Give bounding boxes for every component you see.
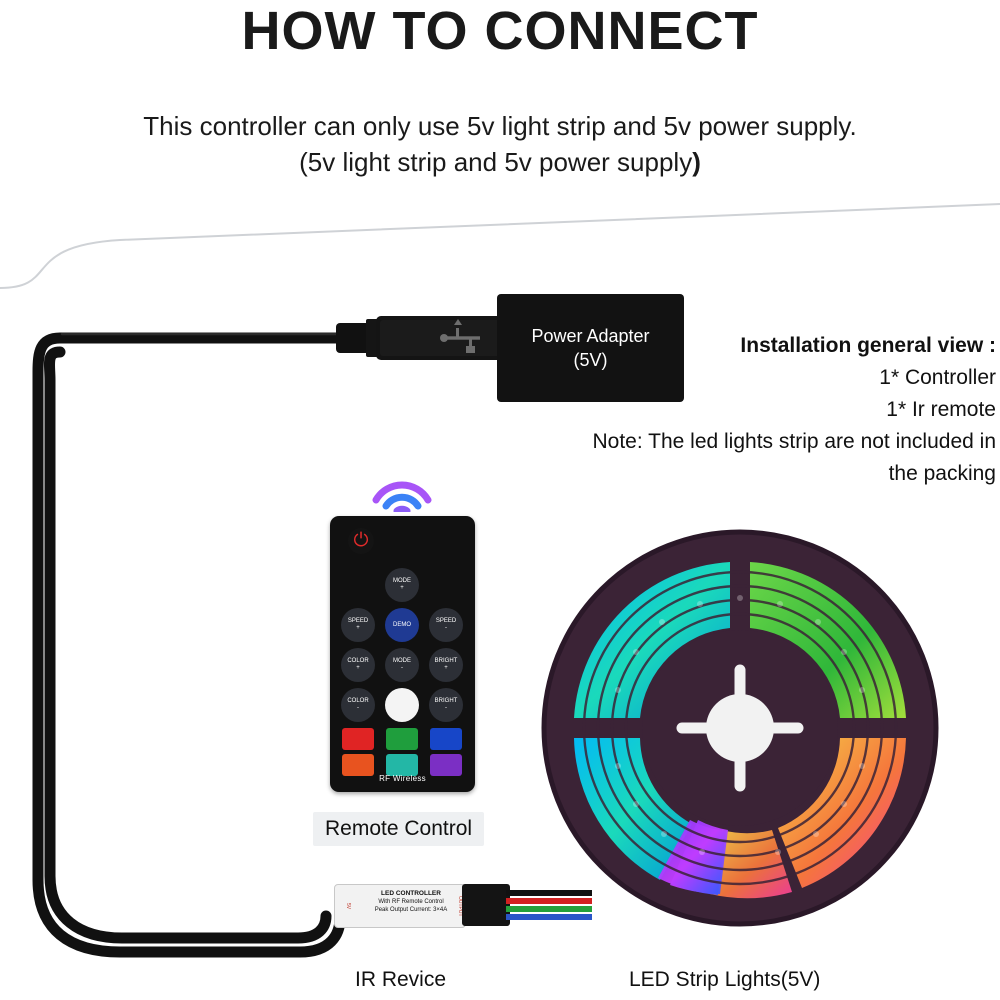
remote-button-speed-plus[interactable]: SPEED + — [341, 608, 375, 642]
controller-text: LED CONTROLLER With RF Remote Control Pe… — [359, 890, 463, 914]
installation-heading: Installation general view : — [566, 330, 996, 362]
page-title: HOW TO CONNECT — [0, 0, 1000, 62]
remote-button-bright-minus[interactable]: BRIGHT - — [429, 688, 463, 722]
remote-color-swatch[interactable] — [430, 754, 462, 776]
remote-button-label: MODE — [393, 658, 411, 665]
installation-item-2: 1* Ir remote — [566, 394, 996, 426]
remote-color-swatch[interactable] — [430, 728, 462, 750]
subtitle-block: This controller can only use 5v light st… — [0, 108, 1000, 180]
wifi-signal-icon — [370, 470, 434, 512]
remote-button-demo[interactable]: DEMO — [385, 608, 419, 642]
remote-button-sub: - — [445, 625, 447, 632]
led-controller: 5V LED CONTROLLER With RF Remote Control… — [334, 884, 466, 928]
remote-button-sub: + — [356, 625, 360, 632]
led-strip-reel — [540, 528, 940, 928]
controller-line-3: Peak Output Current: 3×4A — [359, 906, 463, 914]
remote-color-swatch[interactable] — [386, 754, 418, 776]
remote-button-mode-plus[interactable]: MODE + — [385, 568, 419, 602]
remote-button-color-plus[interactable]: COLOR + — [341, 648, 375, 682]
remote-button-label: DEMO — [393, 622, 411, 629]
remote-button-label: SPEED — [436, 618, 456, 625]
remote-control-label: Remote Control — [313, 812, 484, 846]
controller-left-label: 5V — [339, 888, 351, 924]
header-divider — [0, 200, 1000, 290]
power-icon[interactable]: ⏻ — [348, 528, 374, 554]
remote-button-sub: - — [445, 705, 447, 712]
subtitle-line-2: (5v light strip and 5v power supply) — [0, 144, 1000, 180]
remote-button-white[interactable] — [385, 688, 419, 722]
controller-line-2: With RF Remote Control — [359, 898, 463, 906]
remote-button-sub: + — [444, 665, 448, 672]
subtitle-line-1: This controller can only use 5v light st… — [143, 111, 856, 141]
remote-color-swatch[interactable] — [386, 728, 418, 750]
remote-button-bright-plus[interactable]: BRIGHT + — [429, 648, 463, 682]
usb-plug-icon — [336, 314, 504, 364]
remote-color-swatch[interactable] — [342, 754, 374, 776]
remote-button-label: MODE — [393, 578, 411, 585]
remote-button-sub: + — [356, 665, 360, 672]
four-pin-connector — [462, 884, 510, 926]
installation-item-1: 1* Controller — [566, 362, 996, 394]
installation-info: Installation general view : 1* Controlle… — [566, 330, 996, 490]
remote-button-sub: - — [401, 665, 403, 672]
remote-button-color-minus[interactable]: COLOR - — [341, 688, 375, 722]
remote-button-label: BRIGHT — [435, 698, 458, 705]
controller-title: LED CONTROLLER — [359, 890, 463, 898]
led-strip-label: LED Strip Lights(5V) — [629, 968, 820, 992]
subtitle-line-2-bold: ) — [692, 147, 701, 177]
remote-button-label: COLOR — [347, 658, 368, 665]
remote-button-label: BRIGHT — [435, 658, 458, 665]
remote-button-sub: - — [357, 705, 359, 712]
remote-button-mode-minus[interactable]: MODE - — [385, 648, 419, 682]
remote-control[interactable]: ⏻ MODE + SPEED + DEMO SPEED - COLOR + MO… — [330, 516, 475, 792]
remote-color-swatch[interactable] — [342, 728, 374, 750]
rgb-wires — [506, 888, 592, 922]
remote-rf-label: RF Wireless — [330, 774, 475, 783]
subtitle-line-2-text: (5v light strip and 5v power supply — [299, 147, 692, 177]
installation-note: Note: The led lights strip are not inclu… — [566, 426, 996, 490]
remote-button-speed-minus[interactable]: SPEED - — [429, 608, 463, 642]
remote-button-sub: + — [400, 585, 404, 592]
remote-button-label: SPEED — [348, 618, 368, 625]
remote-button-label: COLOR — [347, 698, 368, 705]
ir-device-label: IR Revice — [355, 968, 446, 992]
